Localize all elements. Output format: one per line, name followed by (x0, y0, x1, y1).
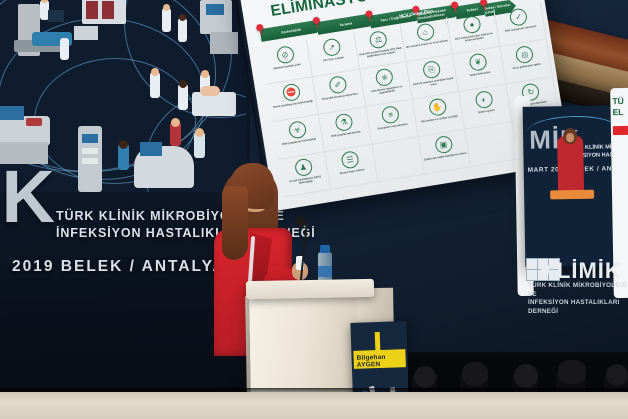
speaker-hair-side (222, 186, 248, 260)
klimik-subtitle: TÜRK KLİNİK MİKROBİYOLOJİ VE İNFEKSİYON … (528, 282, 628, 316)
test-tube-icon: ⚖ (369, 30, 388, 49)
speaker-name: Bilgehan AYGEN (356, 353, 407, 369)
grid-cell: ☰Tarama kayıt sistemi (325, 145, 378, 190)
side-board-line-1: TÜ (612, 96, 624, 107)
monitor-icon: ▣ (434, 135, 453, 154)
grid-cell-label: Sonuçların raporlanması (371, 122, 415, 132)
document-icon: ≡ (381, 105, 400, 124)
hospital-icon: ⌂ (416, 22, 435, 41)
klimik-wordmark: KLİMİK (540, 258, 622, 284)
grid-cell-label: Genel popülasyonun farkındalığı (271, 99, 315, 109)
grid-cell-label: Aile hekimi ve uzman iş birliği (417, 114, 461, 124)
target-icon: ◎ (515, 45, 534, 64)
backdrop-event-line: 2019 BELEK / ANTALYA (12, 258, 226, 276)
grid-cell-label: HCV tedavisinin geri ödeme ve erişim koş… (452, 31, 496, 45)
network-icon: ⎈ (375, 68, 394, 87)
leaf-icon: ❦ (468, 52, 487, 71)
grid-cell-label: Risk gruplarında tarama (324, 129, 368, 139)
grid-cell-label: DAA ile tedaviye erişebilen hasta oranı (411, 77, 456, 91)
live-feed-speaker-body (557, 136, 584, 192)
grid-cell-label: Periyodik tarama programları (318, 92, 362, 102)
microphone-head (296, 216, 305, 227)
lab-icon: ⚗ (334, 113, 353, 132)
risk-group-icon: ☣ (287, 120, 306, 139)
user-block-icon: ⛔ (281, 83, 300, 102)
klimik-sub-line-1: TÜRK KLİNİK MİKROBİYOLOJİ VE (528, 282, 628, 299)
clipboard-icon: ⎘ (422, 60, 441, 79)
phase-label: Tarama (339, 21, 352, 27)
backdrop-logo: İK (0, 160, 58, 234)
phase-label: Farkındalık (281, 27, 301, 34)
grid-cell-label: Anti-HCV pozitif hastada HCV RNA doğrula… (358, 47, 402, 61)
grid-cell-label: Laboratuvar kapasitesi ve ulaşılabilirli… (365, 84, 409, 98)
shield-check-icon: ✓ (509, 7, 528, 26)
syringe-icon: ✐ (328, 75, 347, 94)
grid-cell (372, 137, 425, 182)
live-feed-podium (550, 190, 594, 200)
grid-cell-label: HCV tanı oranları (312, 54, 356, 64)
grid-cell-label: Tedavi uyumu (464, 106, 508, 116)
pill2-icon: ◐ (474, 90, 493, 109)
pill-icon: ● (462, 15, 481, 34)
record-icon: ☰ (340, 150, 359, 169)
klimik-sub-line-2: İNFEKSİYON HASTALIKLARI DERNEĞİ (528, 299, 628, 316)
turkish-flag-icon (613, 126, 628, 135)
grid-cell-label: Elektronik sağlık kayıtlarının izlemi (423, 152, 467, 162)
water-bottle-label (318, 266, 332, 277)
side-board-title: TÜ EL (612, 96, 624, 118)
patient-icon: ♟ (294, 158, 313, 177)
no-entry-icon: ⊘ (275, 45, 294, 64)
grid-cell-label: SVR oranlarının izlenmesi (499, 24, 543, 34)
conference-photo: İK TÜRK KLİNİK MİKROBİYOLOJİ VE İNFEKSİY… (0, 0, 628, 419)
grid-cell-label: Kronik hastalıkların (HCV) farkındalığı (283, 174, 327, 188)
grid-cell (466, 122, 519, 167)
side-board-line-2: EL (613, 107, 625, 118)
grid-cell-label: Risk gruplarının farkındalığı (277, 137, 321, 147)
grid-cell: ♟Kronik hastalıkların (HCV) farkındalığı (279, 152, 332, 197)
grid-cell-label: Ülkedeki hastalık yükü (265, 62, 309, 72)
chart-up-icon: ↗ (322, 38, 341, 57)
live-feed-speaker-face (566, 133, 574, 142)
grid-cell-label: Siroz gelişiminin takibi (505, 61, 549, 71)
grid-cell: ▣Elektronik sağlık kayıtlarının izlemi (419, 129, 472, 174)
handshake-icon: ✋ (428, 97, 447, 116)
podium-top (246, 279, 374, 299)
grid-cell-label: Bir uzmana erişim ve sevk sistemi (405, 39, 449, 49)
stage-floor (0, 392, 628, 419)
water-bottle-cap (320, 245, 330, 253)
grid-cell-label: Tedavi kılavuzları (458, 69, 502, 79)
grid-cell-label: Tarama kayıt sistemi (330, 167, 374, 177)
